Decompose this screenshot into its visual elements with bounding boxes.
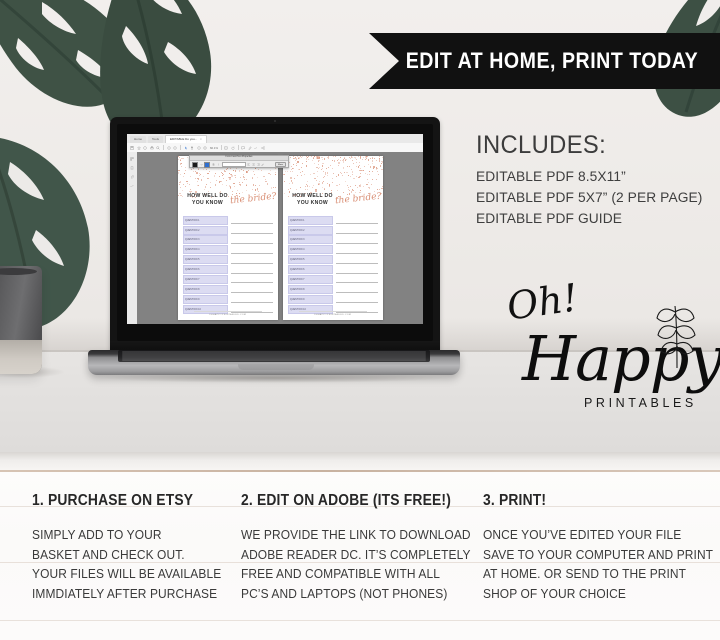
step-line: YOUR FILES WILL BE AVAILABLE — [32, 565, 221, 585]
question-label: QUESTION 9 — [184, 296, 227, 303]
answer-line[interactable] — [231, 246, 273, 254]
toolbar-tools-group — [184, 146, 208, 150]
question-field[interactable]: QUESTION 3 — [183, 235, 228, 244]
step-item: 3. PRINT! ONCE YOU’VE EDITED YOUR FILE S… — [483, 492, 720, 604]
rotate-icon[interactable] — [231, 146, 235, 150]
question-label: QUESTION 10 — [184, 306, 227, 313]
step-heading: 1. PURCHASE ON ETSY — [32, 492, 211, 510]
question-row[interactable]: QUESTION 5 — [183, 256, 273, 264]
question-row[interactable]: QUESTION 7 — [288, 275, 378, 283]
toolbar-divider — [163, 145, 164, 150]
question-field[interactable]: QUESTION 4 — [288, 245, 333, 254]
step-line: PC’S AND LAPTOPS (NOT PHONES) — [241, 585, 461, 605]
comment-icon[interactable] — [241, 146, 245, 150]
step-body: ONCE YOU’VE EDITED YOUR FILE SAVE TO YOU… — [483, 526, 713, 604]
question-label: QUESTION 5 — [289, 256, 332, 263]
question-field[interactable]: QUESTION 6 — [288, 265, 333, 274]
pdf-title: HOW WELL DO YOU KNOW — [291, 193, 335, 206]
answer-line[interactable] — [336, 256, 378, 264]
question-field[interactable]: QUESTION 2 — [183, 226, 228, 235]
pdf-page[interactable]: HOW WELL DO YOU KNOW the bride? QUESTION… — [178, 156, 278, 320]
signatures-icon[interactable] — [130, 184, 134, 188]
leaf-sprig-icon — [647, 298, 703, 370]
step-item: 1. PURCHASE ON ETSY SIMPLY ADD TO YOUR B… — [0, 492, 241, 604]
answer-line[interactable] — [231, 226, 273, 234]
pdf-heading: HOW WELL DO YOU KNOW the bride? — [289, 192, 378, 212]
headline-banner: EDIT AT HOME, PRINT TODAY — [369, 33, 720, 89]
answer-line[interactable] — [336, 226, 378, 234]
step-item: 2. EDIT ON ADOBE (ITS FREE!) WE PROVIDE … — [241, 492, 483, 604]
question-label: QUESTION 4 — [184, 246, 227, 253]
step-line: FREE AND COMPATIBLE WITH ALL — [241, 565, 461, 585]
question-field[interactable]: QUESTION 10 — [183, 305, 228, 314]
zoom-level-value[interactable]: 60.1% — [210, 146, 218, 150]
toolbar-divider — [238, 145, 239, 150]
pdf-title-line2: YOU KNOW — [297, 200, 328, 206]
step-line: BASKET AND CHECK OUT. — [32, 546, 221, 566]
question-label: QUESTION 5 — [184, 256, 227, 263]
question-row[interactable]: QUESTION 6 — [183, 265, 273, 273]
question-label: QUESTION 8 — [289, 286, 332, 293]
align-left-icon[interactable] — [247, 163, 250, 166]
question-row[interactable]: QUESTION 10 — [288, 305, 378, 313]
attachments-icon[interactable] — [130, 175, 134, 179]
italic-icon[interactable]: I — [217, 163, 220, 166]
highlight-color-icon[interactable] — [204, 162, 210, 168]
previous-page-icon[interactable] — [167, 146, 171, 150]
zoom-out-icon[interactable] — [197, 146, 201, 150]
next-page-icon[interactable] — [173, 146, 177, 150]
question-label: QUESTION 1 — [184, 217, 227, 224]
step-heading: 2. EDIT ON ADOBE (ITS FREE!) — [241, 492, 450, 510]
tab-home[interactable]: Home — [130, 136, 146, 143]
question-row[interactable]: QUESTION 3 — [183, 236, 273, 244]
laptop-shadow — [98, 373, 450, 383]
tab-document[interactable]: EDITABLE Do you... × — [165, 135, 207, 143]
dialog-toolbar: B I More — [190, 161, 288, 169]
fit-page-icon[interactable] — [224, 146, 228, 150]
pdf-footer-text: OHHAPPYPRINTABLES.COM — [178, 314, 278, 316]
ceramic-vase-icon — [0, 266, 42, 374]
tab-tools-label: Tools — [152, 137, 159, 141]
step-heading: 3. PRINT! — [483, 492, 701, 510]
question-row[interactable]: QUESTION 1 — [288, 216, 378, 224]
tab-document-label: EDITABLE Do you... — [170, 137, 197, 141]
laptop-bezel: Home Tools EDITABLE Do you... × — [117, 124, 433, 341]
marketing-listing-image: Home Tools EDITABLE Do you... × — [0, 0, 720, 640]
question-label: QUESTION 7 — [184, 276, 227, 283]
question-label: QUESTION 9 — [289, 296, 332, 303]
step-line: AT HOME. OR SEND TO THE PRINT — [483, 565, 713, 585]
answer-line[interactable] — [336, 275, 378, 283]
answer-line[interactable] — [336, 266, 378, 274]
step-line: WE PROVIDE THE LINK TO DOWNLOAD — [241, 526, 461, 546]
panel-top-border — [0, 470, 720, 472]
step-line: SIMPLY ADD TO YOUR — [32, 526, 221, 546]
laptop-screen: Home Tools EDITABLE Do you... × — [127, 134, 423, 324]
question-label: QUESTION 8 — [184, 286, 227, 293]
question-field[interactable]: QUESTION 8 — [288, 285, 333, 294]
question-field[interactable]: QUESTION 3 — [288, 235, 333, 244]
pdf-title-line1: HOW WELL DO — [187, 193, 228, 199]
list-item: EDITABLE PDF GUIDE — [476, 209, 709, 230]
question-row[interactable]: QUESTION 1 — [183, 216, 273, 224]
answer-line[interactable] — [231, 216, 273, 224]
question-label: QUESTION 4 — [289, 246, 332, 253]
align-right-icon[interactable] — [257, 163, 260, 166]
answer-line[interactable] — [231, 256, 273, 264]
pdf-script-title: the bride? — [229, 192, 276, 207]
question-field[interactable]: QUESTION 1 — [183, 216, 228, 225]
toolbar-navigation-group — [167, 146, 178, 150]
desk-front-edge — [0, 452, 720, 470]
question-label: QUESTION 3 — [184, 236, 227, 243]
question-row[interactable]: QUESTION 9 — [183, 295, 273, 303]
webcam-icon — [274, 120, 276, 122]
answer-line[interactable] — [336, 246, 378, 254]
step-line: SHOP OF YOUR CHOICE — [483, 585, 713, 605]
step-line: ONCE YOU’VE EDITED YOUR FILE — [483, 526, 713, 546]
logo-script-top: Oh! — [504, 275, 580, 328]
question-field[interactable]: QUESTION 10 — [288, 305, 333, 314]
step-line: ADOBE READER DC. IT’S COMPLETELY — [241, 546, 461, 566]
question-row[interactable]: QUESTION 2 — [288, 226, 378, 234]
question-row[interactable]: QUESTION 8 — [183, 285, 273, 293]
edit-icon[interactable] — [261, 163, 264, 166]
step-line: IMMDIATELY AFTER PURCHASE — [32, 585, 221, 605]
step-line: SAVE TO YOUR COMPUTER AND PRINT — [483, 546, 713, 566]
question-field[interactable]: QUESTION 9 — [288, 295, 333, 304]
question-row[interactable]: QUESTION 2 — [183, 226, 273, 234]
search-icon[interactable] — [156, 146, 160, 150]
tab-tools[interactable]: Tools — [148, 136, 163, 143]
list-item: EDITABLE PDF 5X7” (2 PER PAGE) — [476, 188, 709, 209]
zoom-in-icon[interactable] — [203, 146, 207, 150]
question-rows: QUESTION 1QUESTION 2QUESTION 3QUESTION 4… — [288, 216, 378, 315]
pdf-heading: HOW WELL DO YOU KNOW the bride? — [184, 192, 273, 212]
answer-line[interactable] — [336, 216, 378, 224]
pdf-title: HOW WELL DO YOU KNOW — [186, 193, 230, 206]
print-preview-icon[interactable] — [143, 146, 147, 150]
font-color-icon[interactable] — [192, 162, 198, 168]
question-label: QUESTION 1 — [289, 217, 332, 224]
adobe-acrobat-window: Home Tools EDITABLE Do you... × — [127, 134, 423, 324]
question-label: QUESTION 6 — [184, 266, 227, 273]
laptop-mockup: Home Tools EDITABLE Do you... × — [88, 117, 460, 379]
includes-block: INCLUDES: EDITABLE PDF 8.5X11” EDITABLE … — [476, 131, 716, 230]
answer-line[interactable] — [231, 285, 273, 293]
list-item: EDITABLE PDF 8.5X11” — [476, 167, 709, 188]
question-row[interactable]: QUESTION 6 — [288, 265, 378, 273]
question-row[interactable]: QUESTION 8 — [288, 285, 378, 293]
laptop-keyboard — [118, 350, 430, 362]
toolbar-file-group — [130, 146, 160, 150]
question-field[interactable]: QUESTION 5 — [288, 255, 333, 264]
toolbar-divider — [221, 145, 222, 150]
laptop-trackpad — [238, 364, 314, 370]
keyboard-row — [122, 359, 426, 361]
question-field[interactable]: QUESTION 9 — [183, 295, 228, 304]
product-photo-scene: Home Tools EDITABLE Do you... × — [0, 0, 720, 470]
step-body: SIMPLY ADD TO YOUR BASKET AND CHECK OUT.… — [32, 526, 221, 604]
more-button[interactable]: More — [275, 162, 286, 167]
chevron-down-icon[interactable] — [200, 163, 203, 166]
answer-line[interactable] — [231, 275, 273, 283]
toolbar-view-group — [224, 146, 235, 150]
includes-list: EDITABLE PDF 8.5X11” EDITABLE PDF 5X7” (… — [476, 167, 716, 230]
answer-line[interactable] — [336, 285, 378, 293]
question-label: QUESTION 6 — [289, 266, 332, 273]
svg-text:B: B — [213, 163, 215, 166]
tab-home-label: Home — [134, 137, 142, 141]
headline-banner-text: EDIT AT HOME, PRINT TODAY — [390, 48, 698, 74]
question-row[interactable]: QUESTION 4 — [288, 246, 378, 254]
bookmarks-icon[interactable] — [130, 166, 134, 170]
pdf-title-line1: HOW WELL DO — [292, 193, 333, 199]
pdf-script-title: the bride? — [334, 192, 381, 207]
page-thumbnails-icon[interactable] — [130, 157, 134, 161]
laptop-lid: Home Tools EDITABLE Do you... × — [110, 117, 440, 355]
question-field[interactable]: QUESTION 4 — [183, 245, 228, 254]
question-row[interactable]: QUESTION 5 — [288, 256, 378, 264]
question-field[interactable]: QUESTION 7 — [288, 275, 333, 284]
toolbar-annotate-group — [241, 146, 265, 150]
form-field-properties-dialog[interactable]: Form Field Text Properties B I — [189, 155, 289, 168]
instructions-panel: 1. PURCHASE ON ETSY SIMPLY ADD TO YOUR B… — [0, 470, 720, 640]
question-label: QUESTION 10 — [289, 306, 332, 313]
question-label: QUESTION 3 — [289, 236, 332, 243]
question-field[interactable]: QUESTION 5 — [183, 255, 228, 264]
question-rows: QUESTION 1QUESTION 2QUESTION 3QUESTION 4… — [183, 216, 273, 315]
question-label: QUESTION 2 — [289, 227, 332, 234]
font-size-field[interactable] — [222, 162, 246, 168]
question-label: QUESTION 7 — [289, 276, 332, 283]
answer-line[interactable] — [336, 236, 378, 244]
svg-text:I: I — [218, 163, 219, 166]
hand-tool-icon[interactable] — [190, 146, 194, 150]
logo-subtitle: PRINTABLES — [584, 396, 697, 410]
question-label: QUESTION 2 — [184, 227, 227, 234]
question-field[interactable]: QUESTION 7 — [183, 275, 228, 284]
sign-icon[interactable] — [254, 146, 258, 150]
wood-plank-line — [0, 620, 720, 621]
pdf-title-line2: YOU KNOW — [192, 200, 223, 206]
toolbar-divider — [180, 145, 181, 150]
save-icon[interactable] — [130, 146, 134, 150]
question-field[interactable]: QUESTION 8 — [183, 285, 228, 294]
answer-line[interactable] — [336, 305, 378, 313]
answer-line[interactable] — [231, 305, 273, 313]
highlight-icon[interactable] — [248, 146, 252, 150]
question-row[interactable]: QUESTION 3 — [288, 236, 378, 244]
align-center-icon[interactable] — [252, 163, 255, 166]
question-row[interactable]: QUESTION 9 — [288, 295, 378, 303]
question-field[interactable]: QUESTION 1 — [288, 216, 333, 225]
share-icon[interactable] — [261, 146, 265, 150]
print-icon[interactable] — [150, 146, 154, 150]
pdf-footer-text: OHHAPPYPRINTABLES.COM — [283, 314, 383, 316]
bookmark-icon[interactable] — [137, 146, 141, 150]
close-icon[interactable]: × — [200, 137, 202, 141]
includes-heading: INCLUDES: — [476, 131, 704, 160]
brand-logo: Oh! Happy PRINTABLES — [497, 280, 697, 425]
question-field[interactable]: QUESTION 2 — [288, 226, 333, 235]
question-row[interactable]: QUESTION 4 — [183, 246, 273, 254]
answer-line[interactable] — [231, 236, 273, 244]
answer-line[interactable] — [336, 295, 378, 303]
step-body: WE PROVIDE THE LINK TO DOWNLOAD ADOBE RE… — [241, 526, 461, 604]
answer-line[interactable] — [231, 295, 273, 303]
pdf-document-canvas[interactable]: HOW WELL DO YOU KNOW the bride? QUESTION… — [137, 152, 423, 324]
steps-row: 1. PURCHASE ON ETSY SIMPLY ADD TO YOUR B… — [0, 492, 720, 604]
bold-icon[interactable]: B — [212, 163, 215, 166]
question-row[interactable]: QUESTION 7 — [183, 275, 273, 283]
pdf-page[interactable]: HOW WELL DO YOU KNOW the bride? QUESTION… — [283, 156, 383, 320]
question-row[interactable]: QUESTION 10 — [183, 305, 273, 313]
question-field[interactable]: QUESTION 6 — [183, 265, 228, 274]
select-tool-icon[interactable] — [184, 146, 188, 150]
answer-line[interactable] — [231, 266, 273, 274]
